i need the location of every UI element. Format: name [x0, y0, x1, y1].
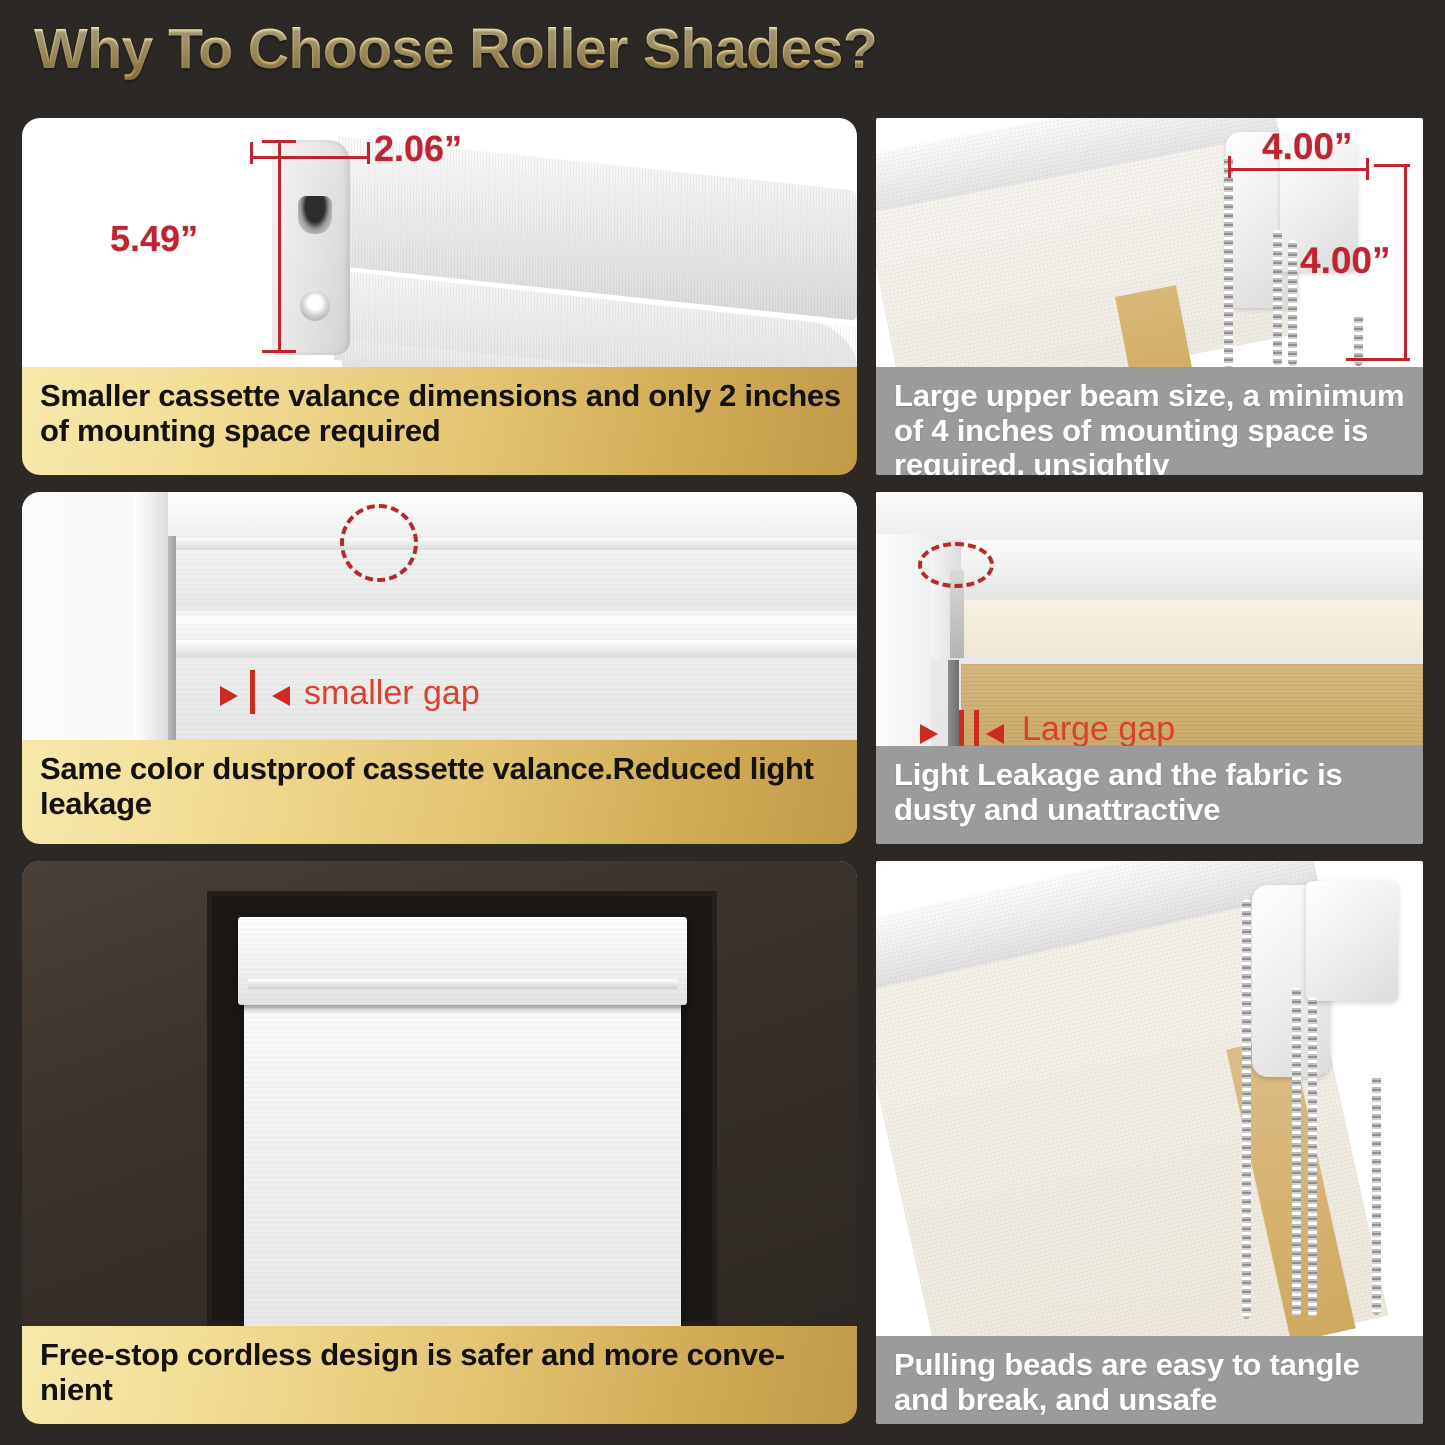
roller-shade-beam-photo: 4.00” 4.00” — [876, 118, 1423, 367]
panel-caption: Free-stop cordless design is safer and m… — [22, 1326, 857, 1424]
panel-cordless-design: Free-stop cordless design is safer and m… — [22, 861, 857, 1424]
gap-callout-label: Large gap — [1022, 710, 1175, 746]
bead-chain — [1288, 240, 1297, 366]
comparison-grid: 2.06” 5.49” Smaller cassette valance dim… — [0, 0, 1445, 1445]
light-leakage-photo: Large gap — [876, 492, 1423, 746]
bracket-screw-icon — [300, 291, 330, 321]
panel-large-upper-beam: 4.00” 4.00” Large upper beam size, a min… — [876, 118, 1423, 475]
bead-chain — [1224, 156, 1233, 367]
panel-cassette-dimensions: 2.06” 5.49” Smaller cassette valance dim… — [22, 118, 857, 475]
bead-chain — [1372, 1075, 1381, 1315]
highlight-circle — [918, 542, 994, 588]
highlight-circle — [340, 504, 418, 582]
cordless-window-scene-photo — [22, 861, 857, 1326]
bead-chain — [1292, 987, 1301, 1317]
panel-smaller-gap: smaller gap Same color dustproof cassett… — [22, 492, 857, 844]
panel-caption: Same color dustproof cassette valance.Re… — [22, 740, 857, 844]
cassette-valance-window-photo: smaller gap — [22, 492, 857, 740]
gap-callout-label: smaller gap — [304, 674, 480, 713]
panel-caption: Smaller cassette valance dimensions and … — [22, 367, 857, 475]
panel-caption: Pulling beads are easy to tangle and bre… — [876, 1336, 1423, 1424]
panel-light-leakage: Large gap Light Leakage and the fabric i… — [876, 492, 1423, 844]
panel-caption: Large upper beam size, a minimum of 4 in… — [876, 367, 1423, 475]
gap-arrow-right-icon — [920, 724, 938, 744]
pulling-beads-photo — [876, 861, 1423, 1336]
gap-arrow-right-icon — [220, 686, 238, 706]
gap-arrow-left-icon — [272, 686, 290, 706]
bead-chain — [1242, 899, 1251, 1319]
cassette-valance-photo: 2.06” 5.49” — [22, 118, 857, 367]
bead-chain — [1273, 230, 1282, 366]
height-dimension-label: 5.49” — [110, 218, 198, 260]
width-dimension-label: 4.00” — [1262, 126, 1353, 168]
height-dimension-label: 4.00” — [1300, 240, 1391, 282]
width-dimension-label: 2.06” — [374, 128, 462, 170]
panel-pulling-beads: Pulling beads are easy to tangle and bre… — [876, 861, 1423, 1424]
bracket-slot-icon — [298, 196, 332, 234]
gap-arrow-left-icon — [986, 724, 1004, 744]
bead-chain — [1308, 997, 1317, 1317]
panel-caption: Light Leakage and the fabric is dusty an… — [876, 746, 1423, 844]
